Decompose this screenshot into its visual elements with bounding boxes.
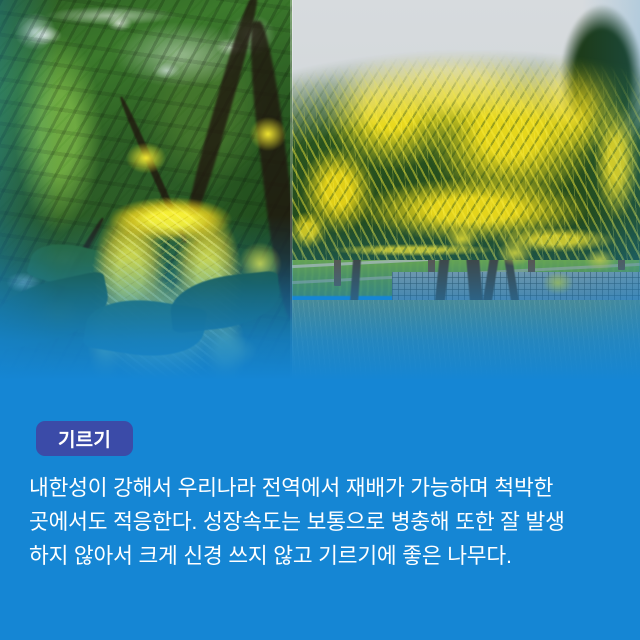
info-card: 기르기 내한성이 강해서 우리나라 전역에서 재배가 가능하며 척박한 곳에서도… — [0, 0, 640, 640]
body-line: 곳에서도 적응한다. 성장속도는 보통으로 병충해 또한 잘 발생 — [29, 505, 615, 539]
body-description: 내한성이 강해서 우리나라 전역에서 재배가 가능하며 척박한 곳에서도 적응한… — [29, 471, 615, 573]
text-panel: 기르기 내한성이 강해서 우리나라 전역에서 재배가 가능하며 척박한 곳에서도… — [0, 392, 640, 640]
photo-collage — [0, 0, 640, 392]
photo-side-fade-overlay — [0, 0, 640, 392]
body-line: 하지 않아서 크게 신경 쓰지 않고 기르기에 좋은 나무다. — [29, 539, 615, 573]
body-line: 내한성이 강해서 우리나라 전역에서 재배가 가능하며 척박한 — [29, 471, 615, 505]
section-badge: 기르기 — [36, 421, 133, 456]
